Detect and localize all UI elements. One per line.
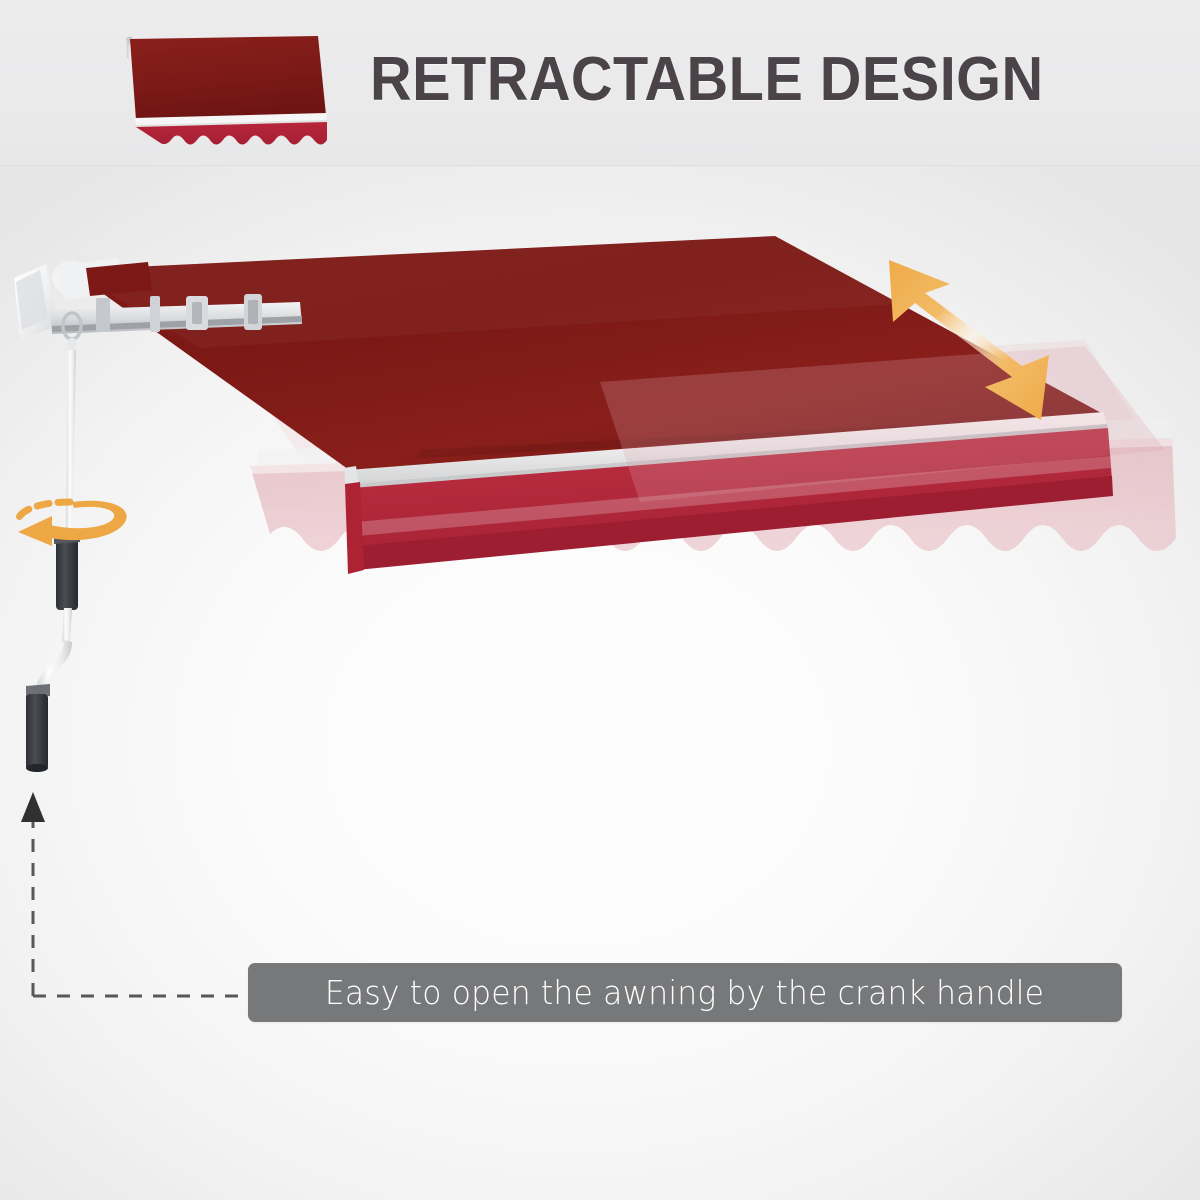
product-feature-image: RETRACTABLE DESIGN <box>0 0 1200 1200</box>
crank-handle <box>26 350 80 772</box>
awning-icon <box>118 30 348 150</box>
caption-text: Easy to open the awning by the crank han… <box>325 974 1044 1012</box>
retractable-awning-illustration <box>0 150 1200 850</box>
caption-bar: Easy to open the awning by the crank han… <box>248 963 1122 1022</box>
page-title: RETRACTABLE DESIGN <box>370 44 1044 116</box>
